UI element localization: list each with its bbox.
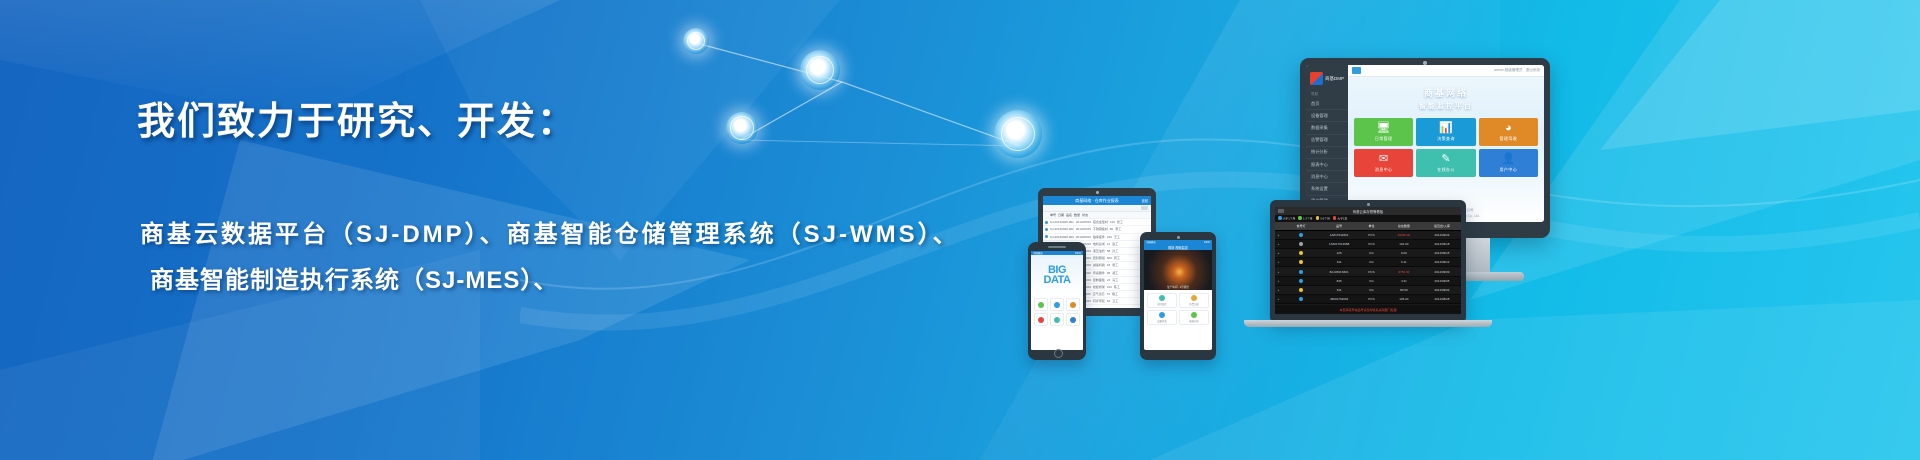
app-icon bbox=[1070, 302, 1076, 308]
table-cell: 赵工 bbox=[1112, 242, 1118, 246]
table-cell: 不锈钢板材 bbox=[1093, 227, 1108, 231]
status-lamp-icon bbox=[1282, 242, 1320, 246]
legend-swatch-icon bbox=[1298, 216, 1302, 220]
table-cell: 褚工 bbox=[1112, 292, 1118, 296]
video-feed[interactable]: 生产车间 · 1号机位 bbox=[1144, 250, 1212, 290]
table-cell: 传感器件 bbox=[1093, 271, 1105, 275]
tile-online-office[interactable]: ✎ 在线办公 bbox=[1416, 149, 1475, 177]
table-cell: 线缆桥架 bbox=[1093, 285, 1105, 289]
app-icon bbox=[1038, 317, 1044, 323]
table-row[interactable]: +611KG80.502014/09/02 bbox=[1275, 286, 1461, 295]
speaker-icon bbox=[1048, 246, 1066, 248]
table-cell: 吴工 bbox=[1112, 263, 1118, 267]
sidebar-item-1[interactable]: 设备管理 bbox=[1306, 110, 1348, 122]
carrier-label: 中国移动 bbox=[1033, 251, 1043, 255]
battery-label: 100% bbox=[1204, 241, 1210, 244]
table-row[interactable]: +611KG6.112014/09/12 bbox=[1275, 258, 1461, 267]
app-icon bbox=[1054, 302, 1060, 308]
row-expand-icon[interactable]: + bbox=[1275, 242, 1282, 246]
camera-icon bbox=[1177, 236, 1180, 239]
phone-app-分析[interactable] bbox=[1050, 298, 1064, 311]
table-cell: 空气滤芯 bbox=[1093, 292, 1105, 296]
network-node bbox=[726, 112, 758, 144]
table-cell: 500 bbox=[1107, 256, 1112, 260]
banner-headline: 我们致力于研究、开发： bbox=[137, 90, 577, 145]
tablet-app-能耗分析[interactable]: 能耗分析 bbox=[1179, 310, 1209, 325]
table-row[interactable]: +1A817644661PCS29325.002014/09/22 bbox=[1275, 231, 1461, 240]
unit: KG bbox=[1358, 251, 1385, 255]
laptop-table-header: 信号灯 品号 单位 总在数量 最近出/入库 bbox=[1275, 222, 1461, 231]
row-expand-icon[interactable]: + bbox=[1275, 270, 1282, 274]
table-cell: 18 bbox=[1107, 263, 1110, 267]
tablet-app-实时监控[interactable]: 实时监控 bbox=[1147, 293, 1177, 308]
table-cell: 64 bbox=[1107, 299, 1110, 303]
table-cell: SJ-20140929-003 bbox=[1050, 235, 1074, 239]
banner-subline-2: 商基智能制造执行系统（SJ-MES）、 bbox=[140, 258, 960, 304]
table-cell: 张工 bbox=[1117, 220, 1123, 224]
table-cell: 减速机箱 bbox=[1093, 263, 1105, 267]
bar-chart-icon: 📊 bbox=[1439, 122, 1453, 134]
tile-message-center[interactable]: ✉ 消息中心 bbox=[1354, 149, 1413, 177]
table-cell: 王工 bbox=[1114, 235, 1120, 239]
hero-banner: 我们致力于研究、开发： 商基云数据平台（SJ-DMP）、商基智能仓储管理系统（S… bbox=[0, 0, 1920, 460]
laptop-base bbox=[1244, 320, 1492, 327]
phone-app-设置[interactable] bbox=[1066, 313, 1080, 326]
banner-subtext: 商基云数据平台（SJ-DMP）、商基智能仓储管理系统（SJ-WMS）、 商基智能… bbox=[140, 212, 960, 304]
table-cell: 冯工 bbox=[1112, 278, 1118, 282]
legend-entry: 1-3个月 bbox=[1298, 216, 1312, 221]
table-cell: SJ-20140929-002 bbox=[1050, 227, 1074, 231]
menu-toggle-icon[interactable] bbox=[1352, 67, 1361, 74]
col-date[interactable]: 最近出/入库 bbox=[1423, 224, 1461, 228]
phone-device: 中国移动 100% BIG DATA bbox=[1028, 242, 1086, 360]
table-cell: 陈工 bbox=[1114, 285, 1120, 289]
imac-sidebar-group: 导航 bbox=[1306, 90, 1348, 98]
status-dot-icon bbox=[1045, 221, 1048, 224]
table-cell: 72 bbox=[1107, 292, 1110, 296]
row-expand-icon[interactable]: + bbox=[1275, 297, 1282, 301]
legend-swatch-icon bbox=[1333, 216, 1337, 220]
status-dot-icon bbox=[1045, 228, 1048, 231]
laptop-window-title: 商基云库存预警看板 bbox=[1275, 207, 1461, 215]
row-expand-icon[interactable]: + bbox=[1275, 260, 1282, 264]
app-label: 能耗分析 bbox=[1189, 319, 1199, 323]
tablet-header: 商基网络 · 仓库作业报表 返回 bbox=[1043, 196, 1151, 205]
app-icon bbox=[1054, 317, 1060, 323]
home-button[interactable] bbox=[1054, 349, 1063, 358]
device-cluster: 商基DMP 导航 首页 设备管理 数据采集 告警管理 统计分析 报表中心 消息中… bbox=[1000, 0, 1920, 460]
table-cell: 240 bbox=[1107, 235, 1112, 239]
sidebar-item-0[interactable]: 首页 bbox=[1306, 98, 1348, 110]
legend-swatch-icon bbox=[1316, 216, 1320, 220]
table-cell: 电机总成 bbox=[1093, 242, 1105, 246]
phone-app-预警[interactable] bbox=[1034, 313, 1048, 326]
col-header-1: 单号 bbox=[1050, 213, 1056, 217]
tablet-header-title: 商基网络 · 仓库作业报表 bbox=[1075, 198, 1119, 204]
legend-entry: 大于1年 bbox=[1333, 216, 1348, 221]
unit: PCS bbox=[1358, 233, 1385, 237]
quantity: 29325.00 bbox=[1385, 233, 1423, 237]
item-code: 611 bbox=[1320, 260, 1358, 264]
imac-screen: 商基DMP 导航 首页 设备管理 数据采集 告警管理 统计分析 报表中心 消息中… bbox=[1306, 65, 1544, 222]
table-cell: 2014/09/29 bbox=[1076, 220, 1091, 224]
table-cell: 86 bbox=[1110, 227, 1113, 231]
tile-management-cockpit[interactable]: ◕ 管理驾驶 bbox=[1479, 118, 1538, 146]
tablet-portrait-grid: 实时监控告警记录设备状态能耗分析 bbox=[1144, 290, 1212, 328]
app-label: 实时监控 bbox=[1157, 302, 1167, 306]
table-cell: 郑工 bbox=[1112, 271, 1118, 275]
tile-label: 决策查询 bbox=[1437, 136, 1455, 142]
banner-subline-1: 商基云数据平台（SJ-DMP）、商基智能仓储管理系统（SJ-WMS）、 bbox=[140, 212, 960, 258]
imac-main: admin 超级管理员 退出系统 商基网络 智能监控平台 🖥 日常管理 bbox=[1348, 65, 1544, 222]
table-cell: 卫工 bbox=[1112, 299, 1118, 303]
quantity: 6.11 bbox=[1385, 260, 1423, 264]
edit-icon: ✎ bbox=[1441, 153, 1450, 165]
app-icon bbox=[1070, 317, 1076, 323]
tablet-portrait-screen: 中国移动 100% 现场 视频监控 生产车间 · 1号机位 实时监控告警记录设备… bbox=[1144, 240, 1212, 350]
table-cell: 24 bbox=[1107, 278, 1110, 282]
sidebar-item-7[interactable]: 系统设置 bbox=[1306, 183, 1348, 195]
laptop-table-body: +1A817644661PCS29325.002014/09/22+1S4017… bbox=[1275, 231, 1461, 305]
unit: PCS bbox=[1358, 297, 1385, 301]
video-caption: 生产车间 · 1号机位 bbox=[1144, 285, 1212, 289]
unit: KG bbox=[1358, 288, 1385, 292]
row-expand-icon[interactable]: + bbox=[1275, 279, 1282, 283]
table-cell: 密封圈组 bbox=[1093, 256, 1105, 260]
app-icon bbox=[1159, 312, 1165, 318]
last-movement-date: 2014/09/15 bbox=[1423, 251, 1461, 255]
imac-hero-subtitle: 智能监控平台 bbox=[1348, 101, 1544, 111]
sidebar-item-6[interactable]: 消息中心 bbox=[1306, 171, 1348, 183]
tablet-app-告警记录[interactable]: 告警记录 bbox=[1179, 293, 1209, 308]
status-lamp-icon bbox=[1282, 260, 1320, 264]
laptop-legend: 小于1个月1-3个月3-6个月大于1年 bbox=[1275, 215, 1461, 222]
phone-app-报表[interactable] bbox=[1066, 298, 1080, 311]
col-header-7: 状态 bbox=[1082, 213, 1088, 217]
table-row[interactable]: +125KG9.002014/09/15 bbox=[1275, 249, 1461, 258]
sidebar-item-4[interactable]: 统计分析 bbox=[1306, 147, 1348, 159]
tile-label: 管理驾驶 bbox=[1500, 136, 1518, 142]
imac-brand-label: 商基DMP bbox=[1325, 76, 1344, 82]
user-icon: 👤 bbox=[1501, 153, 1515, 165]
laptop-screen: 商基云库存预警看板 小于1个月1-3个月3-6个月大于1年 信号灯 品号 单位 … bbox=[1275, 207, 1461, 314]
item-code: 1S4017613688 bbox=[1320, 242, 1358, 246]
table-cell: 李工 bbox=[1115, 227, 1121, 231]
row-expand-icon[interactable]: + bbox=[1275, 251, 1282, 255]
laptop-table: 信号灯 品号 单位 总在数量 最近出/入库 +1A817644661PCS293… bbox=[1275, 222, 1461, 305]
col-header-3: 品名 bbox=[1066, 213, 1072, 217]
network-node bbox=[683, 28, 709, 54]
window-menu-icon[interactable] bbox=[1278, 209, 1284, 213]
logout-button[interactable]: 退出系统 bbox=[1526, 68, 1540, 73]
last-movement-date: 2014/08/28 bbox=[1423, 297, 1461, 301]
imac-tile-grid: 🖥 日常管理 📊 决策查询 ◕ 管理驾驶 ✉ bbox=[1348, 111, 1544, 177]
phone-app-采集[interactable] bbox=[1034, 298, 1048, 311]
camera-icon bbox=[1367, 203, 1370, 206]
last-movement-date: 2014/09/22 bbox=[1423, 233, 1461, 237]
imac-topbar-right: admin 超级管理员 退出系统 bbox=[1494, 68, 1540, 73]
table-row[interactable]: +8A13661S601PCS6756.002014/09/09 bbox=[1275, 267, 1461, 276]
quantity: 6756.00 bbox=[1385, 270, 1423, 274]
table-cell: 液压油管 bbox=[1093, 249, 1105, 253]
sidebar-item-3[interactable]: 告警管理 bbox=[1306, 135, 1348, 147]
last-movement-date: 2014/09/12 bbox=[1423, 260, 1461, 264]
table-cell: 控制面板 bbox=[1093, 278, 1105, 282]
table-cell: 58 bbox=[1107, 249, 1110, 253]
status-lamp-icon bbox=[1282, 279, 1320, 283]
tile-user-center[interactable]: 👤 用户中心 bbox=[1479, 149, 1538, 177]
row-expand-icon[interactable]: + bbox=[1275, 288, 1282, 292]
unit: KG bbox=[1358, 260, 1385, 264]
app-icon bbox=[1191, 295, 1197, 301]
quantity: 105.00 bbox=[1385, 297, 1423, 301]
account-label: admin 超级管理员 bbox=[1494, 68, 1523, 73]
quantity: 80.50 bbox=[1385, 288, 1423, 292]
item-code: 125 bbox=[1320, 251, 1358, 255]
table-cell: 96 bbox=[1107, 271, 1110, 275]
camera-icon bbox=[1423, 61, 1427, 65]
table-cell: SJ-20140929-001 bbox=[1050, 220, 1074, 224]
table-cell: 2014/09/29 bbox=[1076, 235, 1091, 239]
imac-sidebar: 商基DMP 导航 首页 设备管理 数据采集 告警管理 统计分析 报表中心 消息中… bbox=[1306, 65, 1348, 222]
legend-entry: 3-6个月 bbox=[1316, 216, 1330, 221]
imac-brand: 商基DMP bbox=[1306, 69, 1348, 90]
app-icon bbox=[1191, 312, 1197, 318]
tile-label: 消息中心 bbox=[1375, 167, 1393, 173]
last-movement-date: 2014/09/18 bbox=[1423, 242, 1461, 246]
last-movement-date: 2014/09/02 bbox=[1423, 288, 1461, 292]
tablet-portrait-device: 中国移动 100% 现场 视频监控 生产车间 · 1号机位 实时监控告警记录设备… bbox=[1140, 232, 1216, 360]
col-code[interactable]: 品号 bbox=[1320, 224, 1358, 228]
phone-app-设备[interactable] bbox=[1050, 313, 1064, 326]
table-cell: 2014/09/29 bbox=[1076, 227, 1091, 231]
imac-hero: 商基网络 智能监控平台 bbox=[1348, 77, 1544, 111]
table-cell: 同步带轮 bbox=[1093, 299, 1105, 303]
network-node bbox=[800, 50, 840, 90]
tile-label: 日常管理 bbox=[1375, 136, 1393, 142]
item-code: 46601764662 bbox=[1320, 297, 1358, 301]
app-icon bbox=[1038, 302, 1044, 308]
tablet-toolbar bbox=[1043, 205, 1151, 212]
table-cell: 孙工 bbox=[1112, 249, 1118, 253]
table-cell: 铝合金型材 bbox=[1093, 220, 1108, 224]
last-movement-date: 2014/09/05 bbox=[1423, 279, 1461, 283]
pie-chart-icon: ◕ bbox=[1505, 122, 1512, 134]
legend-entry: 小于1个月 bbox=[1278, 216, 1295, 221]
status-dot-icon bbox=[1045, 235, 1048, 238]
table-cell: 120 bbox=[1110, 220, 1115, 224]
phone-hero-text: BIG DATA bbox=[1044, 265, 1071, 285]
phone-hero: BIG DATA bbox=[1031, 255, 1083, 295]
tile-decision-query[interactable]: 📊 决策查询 bbox=[1416, 118, 1475, 146]
table-cell: 轴承座件 bbox=[1093, 235, 1105, 239]
table-row[interactable]: +845KG4.312014/09/05 bbox=[1275, 277, 1461, 286]
last-movement-date: 2014/09/09 bbox=[1423, 270, 1461, 274]
status-lamp-icon bbox=[1282, 297, 1320, 301]
quantity: 102.00 bbox=[1385, 242, 1423, 246]
sidebar-item-2[interactable]: 数据采集 bbox=[1306, 122, 1348, 134]
quantity: 9.00 bbox=[1385, 251, 1423, 255]
status-lamp-icon bbox=[1282, 251, 1320, 255]
item-code: 845 bbox=[1320, 279, 1358, 283]
camera-icon bbox=[1096, 191, 1099, 194]
status-lamp-icon bbox=[1282, 288, 1320, 292]
search-icon[interactable] bbox=[1141, 206, 1148, 210]
table-row[interactable]: SJ-20140929-0012014/09/29铝合金型材120张工 bbox=[1043, 219, 1151, 226]
item-code: 611 bbox=[1320, 288, 1358, 292]
app-label: 告警记录 bbox=[1189, 302, 1199, 306]
table-cell: 150 bbox=[1107, 285, 1112, 289]
table-row[interactable]: +1S4017613688PCS102.002014/09/18 bbox=[1275, 240, 1461, 249]
app-label: 设备状态 bbox=[1157, 319, 1167, 323]
battery-label: 100% bbox=[1075, 252, 1081, 255]
table-cell: 周工 bbox=[1114, 256, 1120, 260]
table-row[interactable]: SJ-20140929-0032014/09/29轴承座件240王工 bbox=[1043, 234, 1151, 241]
mail-icon: ✉ bbox=[1379, 153, 1388, 165]
phone-app-grid bbox=[1031, 295, 1083, 329]
quantity: 4.31 bbox=[1385, 279, 1423, 283]
laptop-device: 商基云库存预警看板 小于1个月1-3个月3-6个月大于1年 信号灯 品号 单位 … bbox=[1270, 200, 1466, 320]
imac-hero-title: 商基网络 bbox=[1348, 86, 1544, 99]
legend-swatch-icon bbox=[1278, 216, 1282, 220]
status-lamp-icon bbox=[1282, 233, 1320, 237]
unit: PCS bbox=[1358, 270, 1385, 274]
unit: KG bbox=[1358, 279, 1385, 283]
table-header-row: 单号 日期 品名 数量 状态 bbox=[1043, 212, 1151, 219]
col-lamp[interactable]: 信号灯 bbox=[1282, 224, 1320, 228]
sidebar-item-5[interactable]: 报表中心 bbox=[1306, 159, 1348, 171]
tile-daily-management[interactable]: 🖥 日常管理 bbox=[1354, 118, 1413, 146]
tile-label: 在线办公 bbox=[1437, 167, 1455, 173]
table-cell: 12 bbox=[1107, 242, 1110, 246]
tablet-app-设备状态[interactable]: 设备状态 bbox=[1147, 310, 1177, 325]
app-icon bbox=[1159, 295, 1165, 301]
col-unit[interactable]: 单位 bbox=[1358, 224, 1385, 228]
unit: PCS bbox=[1358, 242, 1385, 246]
laptop-footer-note: 本页库存异常品号请及时联系采购部门处理 bbox=[1275, 305, 1461, 314]
table-row[interactable]: +46601764662PCS105.002014/08/28 bbox=[1275, 295, 1461, 304]
item-code: 1A817644661 bbox=[1320, 233, 1358, 237]
col-header-5: 数量 bbox=[1074, 213, 1080, 217]
table-row[interactable]: SJ-20140929-0022014/09/29不锈钢板材86李工 bbox=[1043, 226, 1151, 233]
carrier-label: 中国移动 bbox=[1146, 240, 1156, 244]
row-expand-icon[interactable]: + bbox=[1275, 233, 1282, 237]
monitor-icon: 🖥 bbox=[1377, 122, 1391, 134]
tile-label: 用户中心 bbox=[1500, 167, 1518, 173]
logo-icon bbox=[1310, 72, 1323, 85]
col-qty[interactable]: 总在数量 bbox=[1385, 224, 1423, 228]
item-code: 8A13661S601 bbox=[1320, 270, 1358, 274]
laptop-window-title-label: 商基云库存预警看板 bbox=[1353, 209, 1384, 214]
phone-screen: 中国移动 100% BIG DATA bbox=[1031, 251, 1083, 350]
col-header-2: 日期 bbox=[1058, 213, 1064, 217]
back-button[interactable]: 返回 bbox=[1142, 198, 1148, 203]
imac-topbar: admin 超级管理员 退出系统 bbox=[1348, 65, 1544, 77]
phone-hero-line-2: DATA bbox=[1044, 275, 1071, 285]
status-lamp-icon bbox=[1282, 270, 1320, 274]
